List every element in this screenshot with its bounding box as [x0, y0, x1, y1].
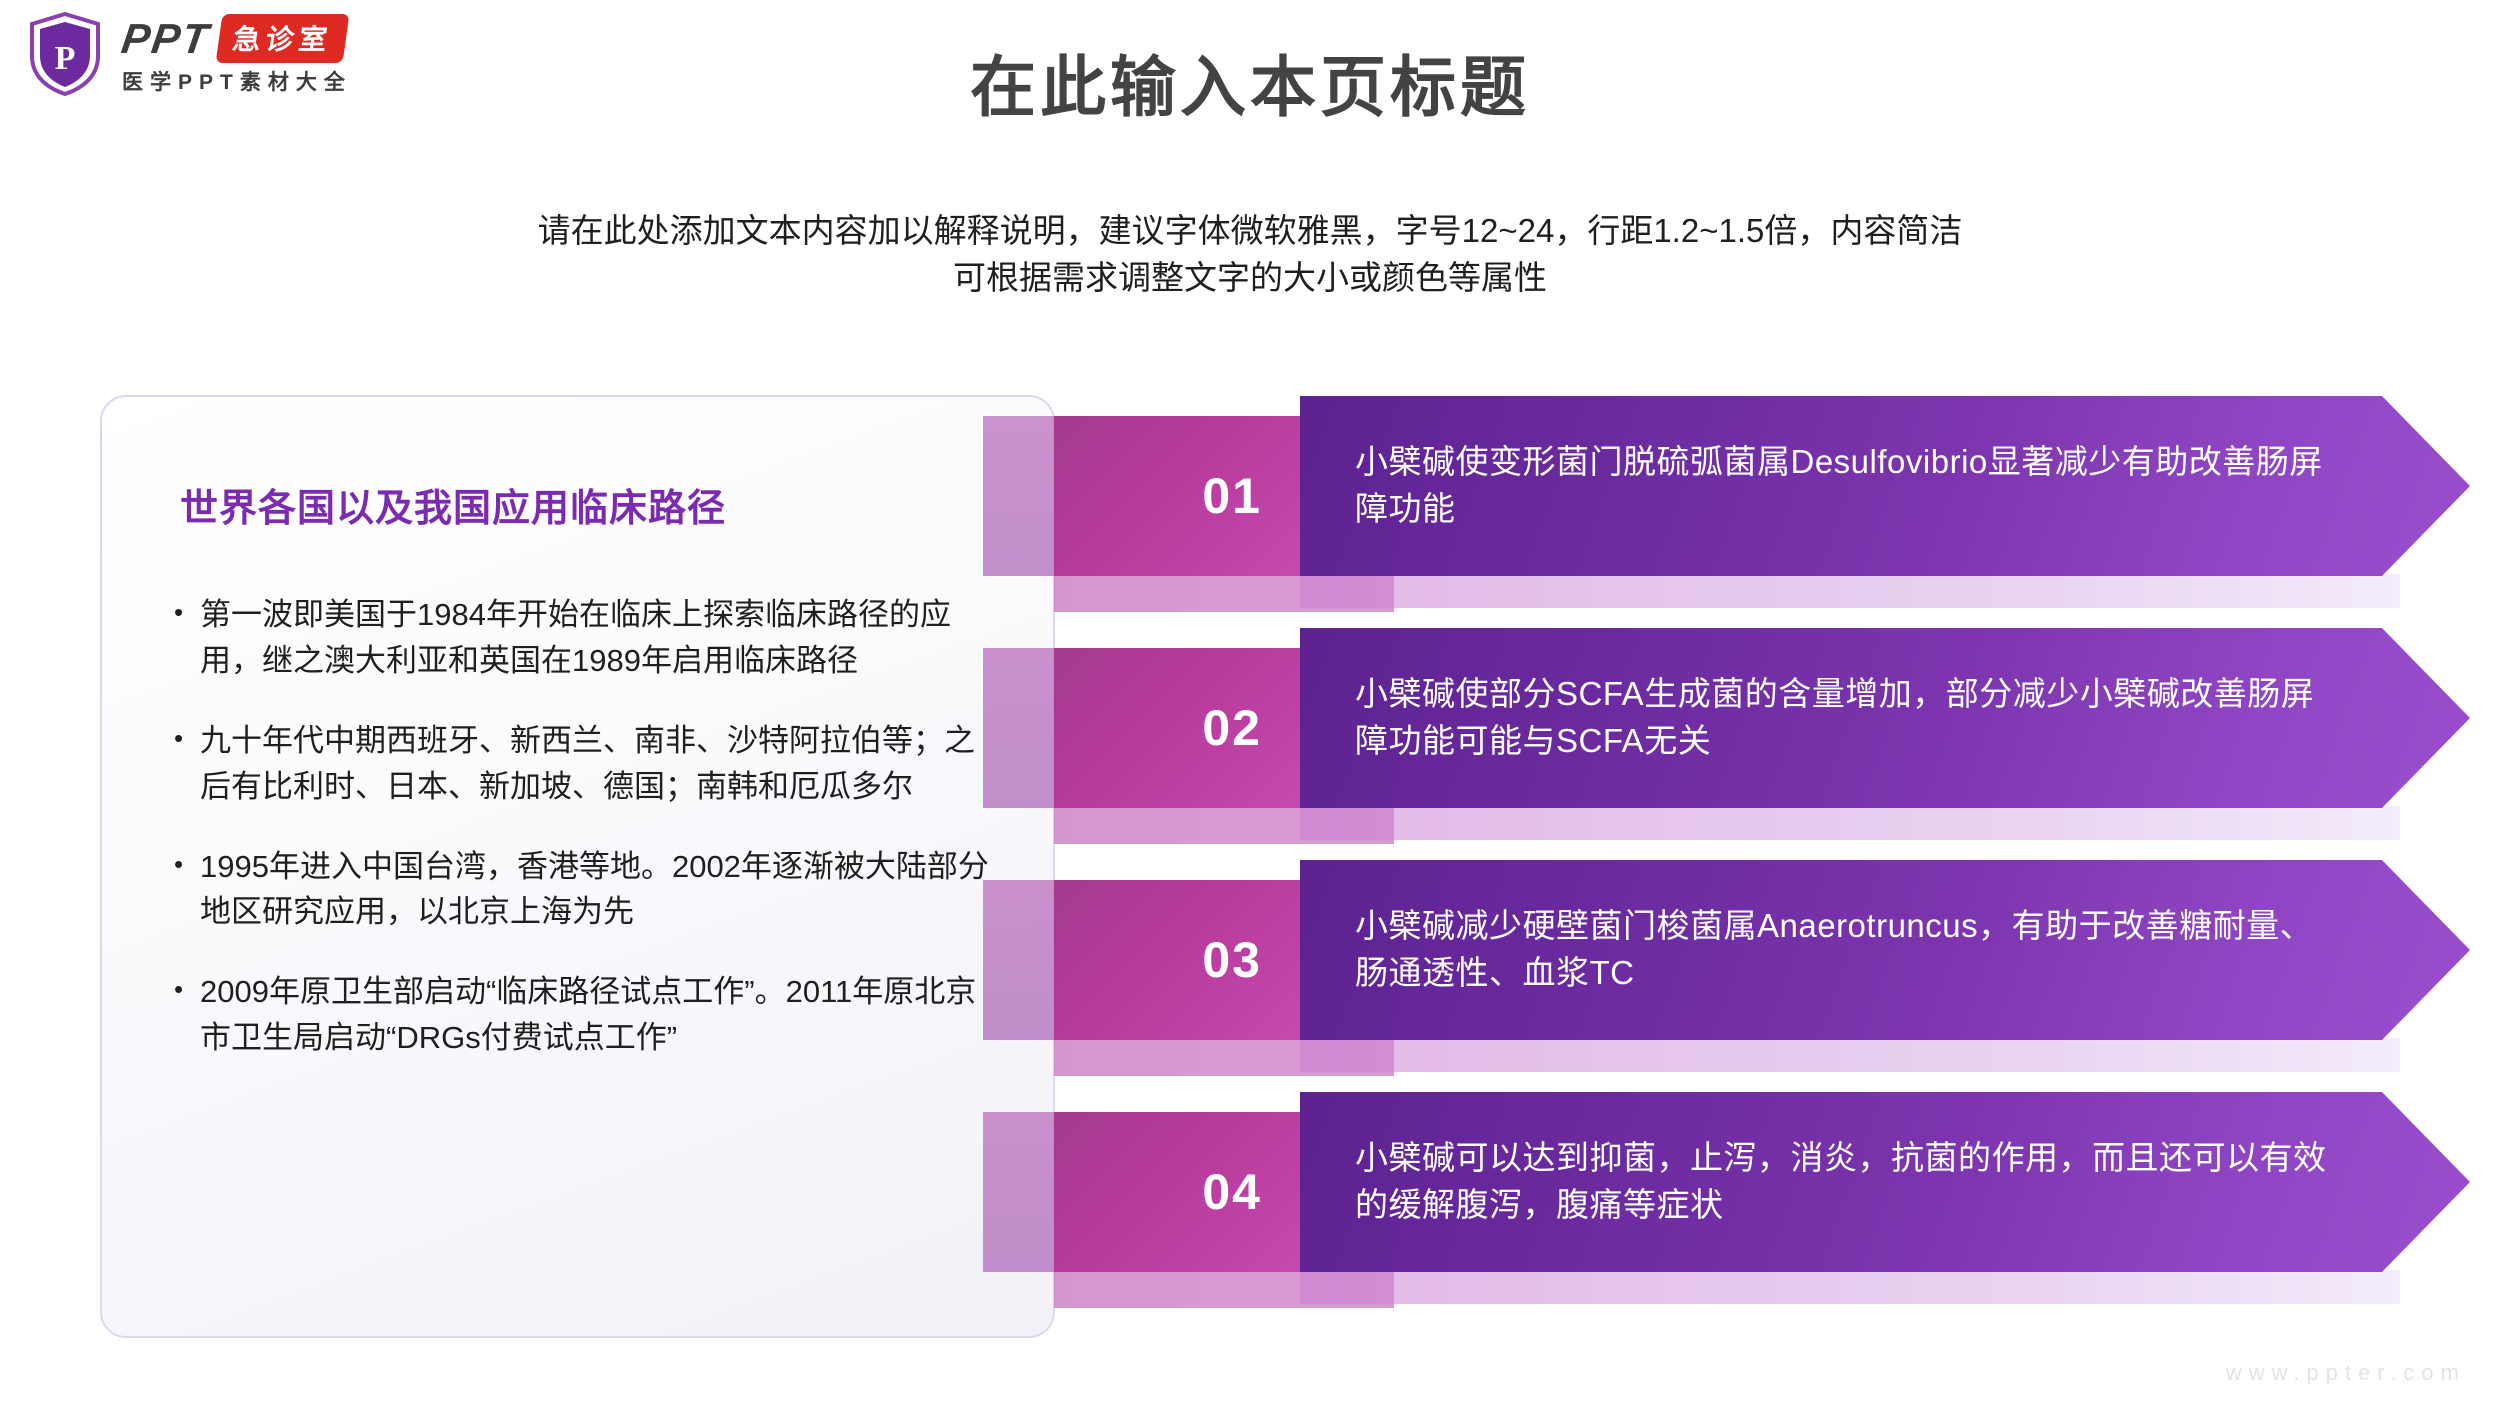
watermark: www.ppter.com: [2226, 1360, 2466, 1386]
arrow-item-01[interactable]: 01 小檗碱使变形菌门脱硫弧菌属Desulfovibrio显著减少有助改善肠屏障…: [1010, 396, 2470, 596]
arrow-item-text: 小檗碱可以达到抑菌，止泻，消炎，抗菌的作用，而且还可以有效的缓解腹泻，腹痛等症状: [1300, 1135, 2470, 1229]
panel-heading: 世界各国以及我国应用临床路径: [180, 477, 726, 532]
arrow-item-number-badge: 02: [1054, 648, 1304, 808]
arrow-item-banner[interactable]: 小檗碱减少硬壁菌门梭菌属Anaerotruncus，有助于改善糖耐量、肠通透性、…: [1300, 860, 2470, 1040]
list-item: • 2009年原卫生部启动“临床路径试点工作”。2011年原北京市卫生局启动“D…: [174, 969, 994, 1061]
arrow-item-shadow: [1300, 574, 2400, 608]
arrow-item-number-badge: 04: [1054, 1112, 1304, 1272]
arrow-item-shadow: [1300, 1270, 2400, 1304]
subtitle-line-1: 请在此处添加文本内容加以解释说明，建议字体微软雅黑，字号12~24，行距1.2~…: [0, 208, 2500, 255]
arrow-item-number: 03: [1202, 931, 1262, 989]
bullet-marker-icon: •: [174, 592, 200, 632]
arrow-item-list: 01 小檗碱使变形菌门脱硫弧菌属Desulfovibrio显著减少有助改善肠屏障…: [1010, 396, 2470, 1346]
list-item: • 1995年进入中国台湾，香港等地。2002年逐渐被大陆部分地区研究应用，以北…: [174, 844, 994, 936]
bullet-marker-icon: •: [174, 969, 200, 1009]
arrow-item-shadow: [1300, 1038, 2400, 1072]
slide-canvas: P PPT 急诊室 医学PPT素材大全 在此输入本页标题 请在此处添加文本内容加…: [0, 0, 2500, 1406]
arrow-item-number-badge: 03: [1054, 880, 1304, 1040]
arrow-item-02[interactable]: 02 小檗碱使部分SCFA生成菌的含量增加，部分减少小檗碱改善肠屏障功能可能与S…: [1010, 628, 2470, 828]
list-item-text: 2009年原卫生部启动“临床路径试点工作”。2011年原北京市卫生局启动“DRG…: [200, 969, 994, 1061]
arrow-item-shadow: [1300, 806, 2400, 840]
list-item-text: 第一波即美国于1984年开始在临床上探索临床路径的应用，继之澳大利亚和英国在19…: [200, 592, 994, 684]
arrow-item-text: 小檗碱使变形菌门脱硫弧菌属Desulfovibrio显著减少有助改善肠屏障功能: [1300, 439, 2470, 533]
arrow-item-number: 04: [1202, 1163, 1262, 1221]
list-item-text: 九十年代中期西班牙、新西兰、南非、沙特阿拉伯等；之后有比利时、日本、新加坡、德国…: [200, 718, 994, 810]
page-title: 在此输入本页标题: [0, 34, 2500, 130]
arrow-item-text: 小檗碱减少硬壁菌门梭菌属Anaerotruncus，有助于改善糖耐量、肠通透性、…: [1300, 903, 2470, 997]
arrow-item-number: 02: [1202, 699, 1262, 757]
arrow-item-03[interactable]: 03 小檗碱减少硬壁菌门梭菌属Anaerotruncus，有助于改善糖耐量、肠通…: [1010, 860, 2470, 1060]
arrow-item-banner[interactable]: 小檗碱可以达到抑菌，止泻，消炎，抗菌的作用，而且还可以有效的缓解腹泻，腹痛等症状: [1300, 1092, 2470, 1272]
arrow-item-04[interactable]: 04 小檗碱可以达到抑菌，止泻，消炎，抗菌的作用，而且还可以有效的缓解腹泻，腹痛…: [1010, 1092, 2470, 1292]
arrow-item-banner[interactable]: 小檗碱使变形菌门脱硫弧菌属Desulfovibrio显著减少有助改善肠屏障功能: [1300, 396, 2470, 576]
list-item: • 第一波即美国于1984年开始在临床上探索临床路径的应用，继之澳大利亚和英国在…: [174, 592, 994, 684]
left-info-panel: 世界各国以及我国应用临床路径 • 第一波即美国于1984年开始在临床上探索临床路…: [100, 395, 1055, 1338]
page-subtitle: 请在此处添加文本内容加以解释说明，建议字体微软雅黑，字号12~24，行距1.2~…: [0, 208, 2500, 302]
arrow-item-text: 小檗碱使部分SCFA生成菌的含量增加，部分减少小檗碱改善肠屏障功能可能与SCFA…: [1300, 671, 2470, 765]
arrow-item-banner[interactable]: 小檗碱使部分SCFA生成菌的含量增加，部分减少小檗碱改善肠屏障功能可能与SCFA…: [1300, 628, 2470, 808]
list-item-text: 1995年进入中国台湾，香港等地。2002年逐渐被大陆部分地区研究应用，以北京上…: [200, 844, 994, 936]
bullet-list: • 第一波即美国于1984年开始在临床上探索临床路径的应用，继之澳大利亚和英国在…: [174, 592, 994, 1095]
arrow-item-number: 01: [1202, 467, 1262, 525]
list-item: • 九十年代中期西班牙、新西兰、南非、沙特阿拉伯等；之后有比利时、日本、新加坡、…: [174, 718, 994, 810]
bullet-marker-icon: •: [174, 718, 200, 758]
bullet-marker-icon: •: [174, 844, 200, 884]
subtitle-line-2: 可根据需求调整文字的大小或颜色等属性: [0, 255, 2500, 302]
arrow-item-number-badge: 01: [1054, 416, 1304, 576]
